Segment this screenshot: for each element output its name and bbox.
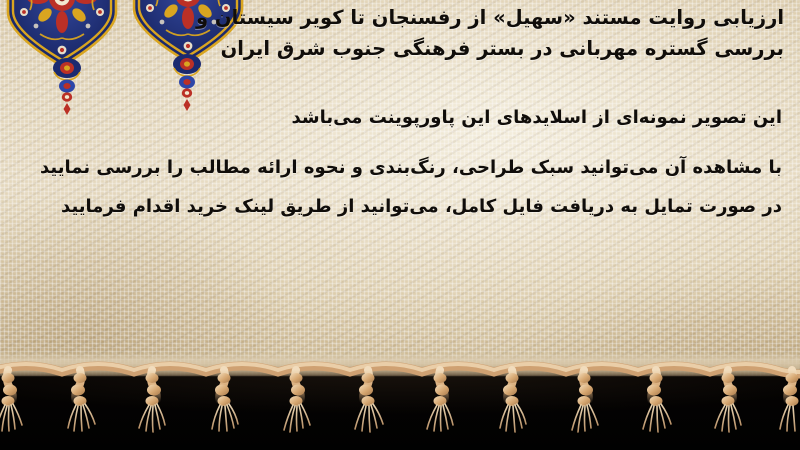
carpet-fringe <box>0 352 800 450</box>
slide-body-line-2: با مشاهده آن می‌توانید سبک طراحی، رنگ‌بن… <box>40 157 782 178</box>
slide-title-line-1: ارزیابی روایت مستند «سهیل» از رفسنجان تا… <box>196 6 784 29</box>
slide-body-line-1: این تصویر نمونه‌ای از اسلایدهای این پاور… <box>291 107 782 128</box>
fringe-tassel-group <box>0 370 799 432</box>
slide-body-line-3: در صورت تمایل به دریافت فایل کامل، می‌تو… <box>61 196 782 217</box>
slide-text-block: ارزیابی روایت مستند «سهیل» از رفسنجان تا… <box>0 0 800 376</box>
slide-canvas: ارزیابی روایت مستند «سهیل» از رفسنجان تا… <box>0 0 800 450</box>
slide-title-line-2: بررسی گستره مهربانی در بستر فرهنگی جنوب … <box>221 37 784 60</box>
